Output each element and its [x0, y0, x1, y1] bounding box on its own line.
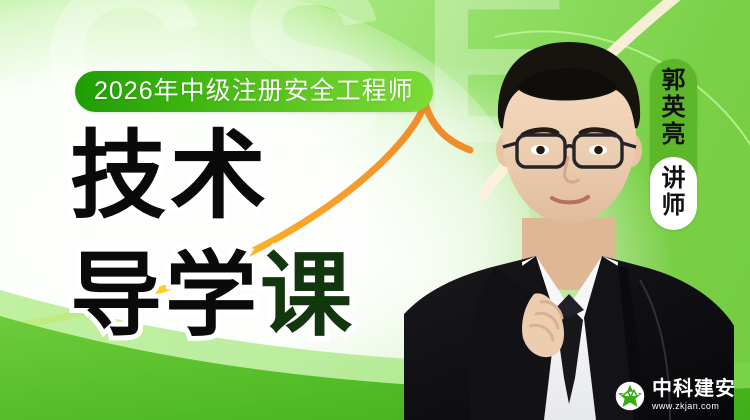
- course-promo-poster: CSE: [0, 0, 750, 420]
- headline: 技术 导学课: [70, 128, 355, 342]
- instructor-name: 郭英亮: [650, 68, 697, 149]
- zkjan-circle-star-icon: [615, 381, 645, 411]
- brand-logo: 中科建安 www.zkjan.com: [615, 379, 736, 412]
- title-line-2-accent: 课: [260, 242, 355, 349]
- title-line-2: 导学课: [70, 250, 355, 342]
- brand-url: www.zkjan.com: [652, 401, 736, 412]
- logo-text-group: 中科建安 www.zkjan.com: [652, 379, 736, 412]
- title-line-2-main: 导学: [70, 242, 260, 349]
- instructor-name-pill: 郭英亮 讲师: [650, 59, 697, 230]
- course-banner: 2026年中级注册安全工程师: [75, 71, 433, 112]
- instructor-role: 讲师: [650, 166, 697, 220]
- brand-name: 中科建安: [652, 379, 736, 400]
- title-line-1: 技术: [70, 128, 355, 224]
- banner-label: 2026年中级注册安全工程师: [94, 79, 414, 104]
- instructor-role-pill: 讲师: [650, 157, 697, 231]
